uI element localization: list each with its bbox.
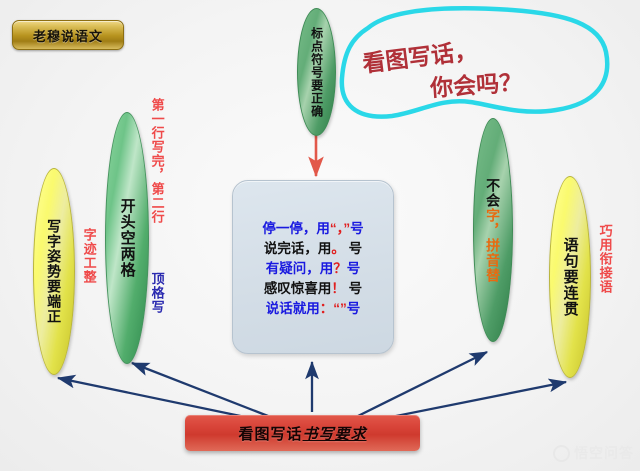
arrow-to-pinyin-substitute	[358, 352, 487, 416]
pill-pinyin-substitute: 不会 字，拼音替	[473, 118, 513, 342]
punct-line-4-post: 号	[345, 281, 362, 296]
headline-line-2: 你会吗？	[429, 63, 523, 103]
bottom-banner-label-sub: 书写要求	[303, 423, 367, 444]
annotation-use-connectives: 巧用衔接语	[598, 224, 612, 294]
headline-group: 看图写话， 你会吗？	[352, 14, 602, 110]
punct-line-4: 感叹惊喜用！ 号	[264, 279, 362, 299]
pill-sentences-coherent-label: 语句要连贯	[562, 237, 577, 317]
punct-line-2-pre: 说完话，用	[264, 241, 332, 256]
pill-pinyin-substitute-label-orange: 字，拼音替	[486, 208, 500, 283]
bottom-banner-text: 看图写话书写要求	[185, 415, 420, 451]
watermark: 悟空问答	[553, 443, 634, 463]
pill-punctuation-correct-label: 标点符号要正确	[310, 27, 322, 118]
pill-punctuation-correct: 标点符号要正确	[297, 8, 336, 136]
brand-badge-label: 老穆说语文	[33, 26, 103, 45]
arrow-to-writing-posture	[58, 378, 250, 418]
arrow-to-indent-two-spaces	[132, 363, 268, 416]
punct-line-5-mark: ：“”	[320, 301, 347, 316]
punct-line-2-post: 号	[345, 241, 362, 256]
punct-line-3-pre: 有疑问，用	[266, 261, 334, 276]
punct-line-3-post: 号	[347, 261, 361, 276]
annotation-second-line-blue: 顶格写	[150, 272, 164, 314]
pill-writing-posture-label: 写字姿势要端正	[47, 219, 61, 324]
pill-writing-posture: 写字姿势要端正	[33, 168, 75, 375]
punct-line-1-post: 号	[350, 221, 364, 236]
pill-pinyin-substitute-label-black: 不会	[486, 178, 500, 208]
annotation-second-line-red: 第一行写完，第二行	[150, 98, 164, 224]
punct-line-5-pre: 说话就用	[266, 301, 320, 316]
pill-indent-two-spaces: 开头空两格	[105, 112, 149, 364]
punct-line-3-mark: ？	[333, 261, 347, 276]
annotation-neat-handwriting: 字迹工整	[82, 228, 96, 284]
punct-line-2-mark: 。	[331, 241, 345, 256]
punct-line-2: 说完话，用。 号	[264, 239, 362, 259]
punct-line-3: 有疑问，用？号	[266, 259, 361, 279]
punct-line-1-mark: “，”	[330, 221, 350, 236]
pill-indent-two-spaces-label: 开头空两格	[119, 198, 134, 278]
brand-badge: 老穆说语文	[12, 20, 124, 50]
pill-sentences-coherent: 语句要连贯	[549, 176, 591, 378]
punct-line-1: 停一停，用“，”号	[262, 219, 363, 239]
punct-line-5-post: 号	[347, 301, 361, 316]
watermark-label: 悟空问答	[574, 443, 634, 463]
bottom-banner-label-main: 看图写话	[238, 423, 302, 444]
wukong-logo-icon	[553, 445, 570, 462]
bottom-banner: 看图写话书写要求	[185, 415, 420, 451]
poster-canvas: 老穆说语文 看图写话， 你会吗？ 写字姿势要端正 字迹工整 开头空两格 第一行写…	[0, 0, 640, 471]
punctuation-rules-box: 停一停，用“，”号 说完话，用。 号 有疑问，用？号 感叹惊喜用！ 号 说话就用…	[232, 180, 394, 354]
punct-line-5: 说话就用：“”号	[266, 299, 361, 319]
punct-line-4-mark: ！	[331, 281, 345, 296]
punct-line-1-pre: 停一停，用	[262, 221, 330, 236]
punct-line-4-pre: 感叹惊喜用	[264, 281, 332, 296]
